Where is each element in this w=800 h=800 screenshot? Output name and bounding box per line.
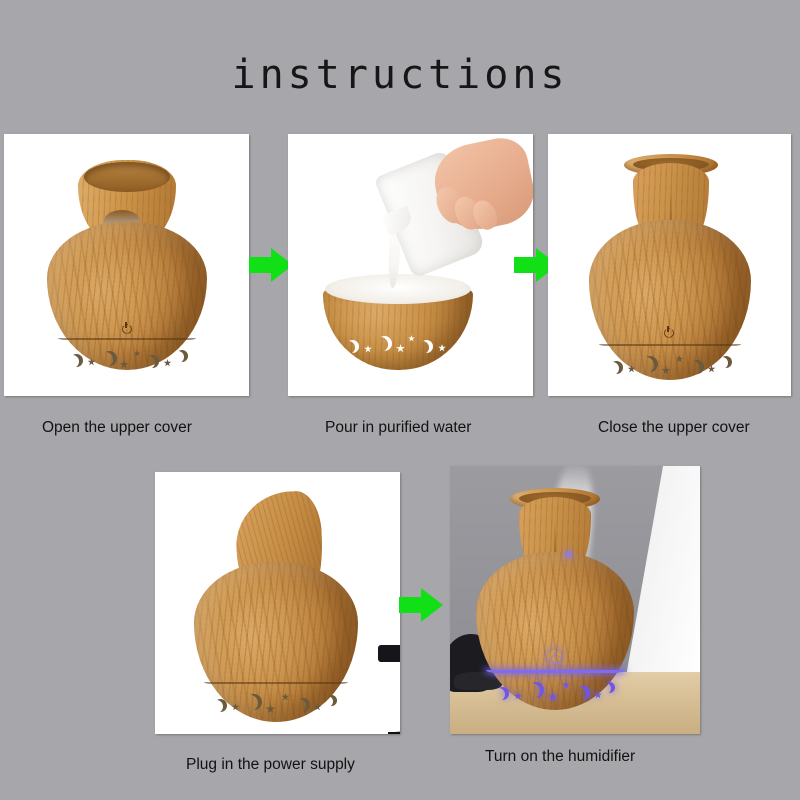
water-surface bbox=[325, 274, 471, 304]
step-5-image-panel bbox=[450, 466, 700, 734]
arrow-right-icon-step-1-to-2 bbox=[249, 248, 293, 282]
humidifier-seam-line bbox=[204, 682, 348, 684]
star-moon-cutouts bbox=[210, 690, 340, 718]
instructions-infographic: instructions bbox=[0, 0, 800, 800]
step-4-photo bbox=[155, 472, 400, 734]
step-3-caption: Close the upper cover bbox=[598, 419, 750, 437]
step-3-image-panel bbox=[548, 134, 791, 396]
step-1-image-panel bbox=[4, 134, 249, 396]
star-moon-cutouts bbox=[606, 352, 734, 380]
humidifier-plugged-in bbox=[192, 492, 364, 724]
step-2-photo bbox=[288, 134, 533, 396]
step-1-caption: Open the upper cover bbox=[42, 419, 192, 437]
humidifier-open-mouth bbox=[84, 162, 170, 192]
step-2-image-panel bbox=[288, 134, 533, 396]
power-button-icon bbox=[548, 650, 561, 663]
page-title: instructions bbox=[0, 52, 800, 98]
step-1-photo bbox=[4, 134, 249, 396]
humidifier-open-cover bbox=[42, 160, 212, 370]
led-indicator-dot bbox=[566, 552, 571, 557]
power-cable bbox=[388, 657, 401, 734]
arrow-right-icon-step-4-to-5 bbox=[399, 588, 443, 622]
humidifier-seam-glow bbox=[486, 670, 624, 673]
humidifier-seam-line bbox=[599, 344, 741, 346]
step-2-caption: Pour in purified water bbox=[325, 419, 471, 437]
humidifier-seam-line bbox=[58, 338, 196, 340]
humidifier-closed-cover bbox=[586, 154, 754, 382]
star-moon-cutouts bbox=[64, 346, 190, 374]
step-4-image-panel bbox=[155, 472, 400, 734]
star-moon-cutouts-illuminated bbox=[494, 678, 616, 706]
step-4-caption: Plug in the power supply bbox=[186, 756, 355, 774]
power-button-icon bbox=[120, 320, 133, 333]
humidifier-running bbox=[476, 488, 634, 710]
power-button-icon bbox=[662, 324, 675, 337]
step-5-caption: Turn on the humidifier bbox=[485, 748, 635, 766]
step-5-photo bbox=[450, 466, 700, 734]
step-3-photo bbox=[548, 134, 791, 396]
star-moon-cutouts bbox=[344, 332, 456, 358]
